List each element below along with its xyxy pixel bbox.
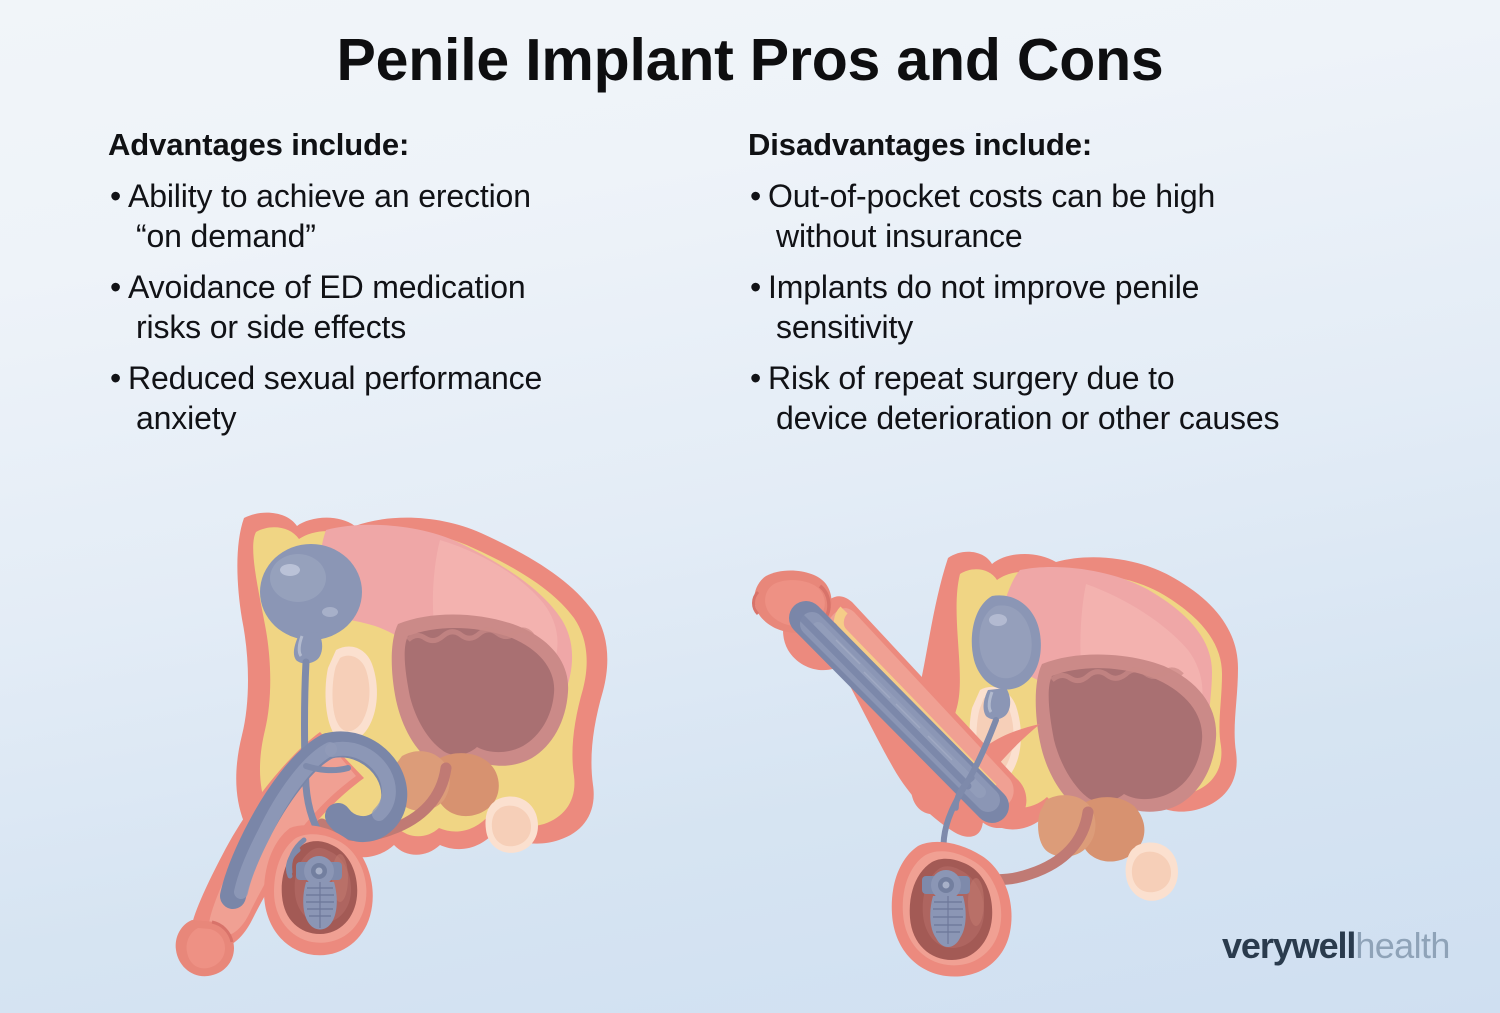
advantages-heading: Advantages include: — [108, 127, 708, 163]
logo-word-verywell: verywell — [1222, 925, 1355, 966]
list-item: • Implants do not improve penile sensiti… — [748, 267, 1478, 348]
bullet-line-2: device deterioration or other causes — [768, 398, 1478, 438]
bullet-line-1: Avoidance of ED medication — [128, 269, 526, 305]
bullet-icon: • — [110, 358, 121, 398]
bullet-line-2: without insurance — [768, 216, 1478, 256]
bullet-icon: • — [750, 176, 761, 216]
bullet-line-2: risks or side effects — [128, 307, 708, 347]
bullet-icon: • — [750, 358, 761, 398]
verywell-health-logo: verywellhealth — [1222, 925, 1450, 967]
advantages-column: Advantages include: • Ability to achieve… — [108, 127, 708, 449]
list-item: • Avoidance of ED medication risks or si… — [108, 267, 708, 348]
list-item: • Risk of repeat surgery due to device d… — [748, 358, 1478, 439]
bullet-icon: • — [110, 176, 121, 216]
erect-diagram-svg — [740, 540, 1240, 990]
bullet-line-1: Risk of repeat surgery due to — [768, 360, 1175, 396]
bullet-line-1: Ability to achieve an erection — [128, 178, 531, 214]
erect-penile-implant-diagram — [740, 540, 1240, 990]
flaccid-diagram-svg — [140, 500, 610, 1000]
list-item: • Reduced sexual performance anxiety — [108, 358, 708, 439]
infographic-canvas: Penile Implant Pros and Cons Advantages … — [0, 0, 1500, 1013]
list-item: • Out-of-pocket costs can be high withou… — [748, 176, 1478, 257]
page-title: Penile Implant Pros and Cons — [0, 26, 1500, 94]
bullet-line-1: Reduced sexual performance — [128, 360, 542, 396]
bullet-line-1: Implants do not improve penile — [768, 269, 1199, 305]
disadvantages-list: • Out-of-pocket costs can be high withou… — [748, 176, 1478, 439]
bullet-line-2: anxiety — [128, 398, 708, 438]
bullet-icon: • — [750, 267, 761, 307]
list-item: • Ability to achieve an erection “on dem… — [108, 176, 708, 257]
logo-word-health: health — [1355, 925, 1450, 966]
bullet-line-1: Out-of-pocket costs can be high — [768, 178, 1215, 214]
flaccid-penile-implant-diagram — [140, 500, 610, 1000]
advantages-list: • Ability to achieve an erection “on dem… — [108, 176, 708, 439]
bullet-line-2: “on demand” — [128, 216, 708, 256]
bullet-line-2: sensitivity — [768, 307, 1478, 347]
disadvantages-heading: Disadvantages include: — [748, 127, 1478, 163]
bullet-icon: • — [110, 267, 121, 307]
disadvantages-column: Disadvantages include: • Out-of-pocket c… — [748, 127, 1478, 449]
